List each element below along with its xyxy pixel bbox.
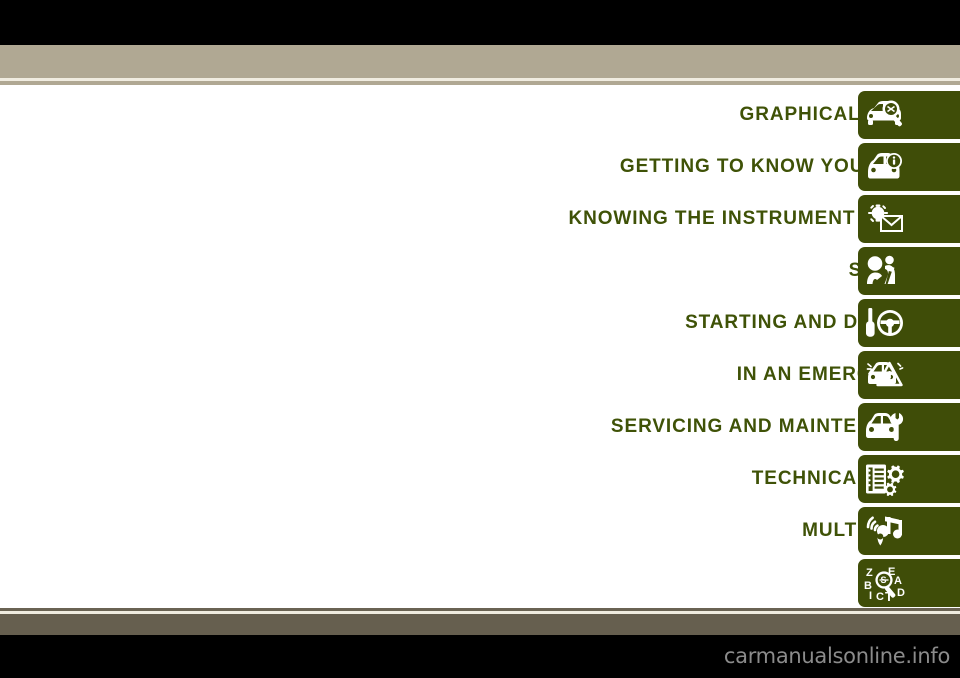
- car-magnifier-icon: [864, 98, 904, 132]
- toc-item-tile[interactable]: [858, 247, 960, 295]
- svg-text:C: C: [876, 591, 884, 601]
- car-warning-triangle-icon: [864, 358, 904, 392]
- key-steering-wheel-icon: [864, 306, 904, 340]
- table-of-contents: GRAPHICAL INDEX: [0, 91, 960, 611]
- svg-text:D: D: [897, 587, 905, 599]
- toc-row[interactable]: TECHNICAL DATA: [0, 455, 960, 503]
- airbag-seatbelt-icon: [864, 254, 904, 288]
- toc-item-tile[interactable]: [858, 91, 960, 139]
- toc-row[interactable]: SAFETY: [0, 247, 960, 295]
- toc-item-tile[interactable]: [858, 507, 960, 555]
- alphabet-magnifier-icon: Z E B A I C T D S: [864, 565, 906, 601]
- top-tan-band: [0, 45, 960, 78]
- toc-item-tile[interactable]: [858, 143, 960, 191]
- toc-item-tile[interactable]: [858, 195, 960, 243]
- bottom-olive-band: [0, 614, 960, 635]
- svg-text:A: A: [894, 575, 902, 587]
- toc-item-tile[interactable]: [858, 299, 960, 347]
- document-gears-icon: [864, 462, 904, 496]
- toc-row[interactable]: GETTING TO KNOW YOUR CAR: [0, 143, 960, 191]
- toc-row[interactable]: STARTING AND DRIVING: [0, 299, 960, 347]
- site-watermark: carmanualsonline.info: [724, 646, 950, 667]
- lamp-envelope-icon: [864, 202, 904, 236]
- toc-row[interactable]: GRAPHICAL INDEX: [0, 91, 960, 139]
- music-note-waves-icon: [864, 514, 904, 548]
- toc-row[interactable]: SERVICING AND MAINTENANCE: [0, 403, 960, 451]
- car-info-icon: [864, 150, 904, 184]
- toc-row[interactable]: INDEX Z E B A I C T D: [0, 559, 960, 607]
- toc-item-tile[interactable]: Z E B A I C T D S: [858, 559, 960, 607]
- toc-item-tile[interactable]: [858, 403, 960, 451]
- svg-text:Z: Z: [866, 567, 873, 579]
- svg-text:I: I: [869, 590, 872, 601]
- car-wrench-icon: [864, 410, 904, 444]
- toc-row[interactable]: MULTIMEDIA: [0, 507, 960, 555]
- toc-row[interactable]: IN AN EMERGENCY: [0, 351, 960, 399]
- toc-item-tile[interactable]: [858, 455, 960, 503]
- manual-contents-page: GRAPHICAL INDEX: [0, 0, 960, 678]
- toc-item-tile[interactable]: [858, 351, 960, 399]
- top-black-band: [0, 0, 960, 45]
- toc-row[interactable]: KNOWING THE INSTRUMENT PANEL: [0, 195, 960, 243]
